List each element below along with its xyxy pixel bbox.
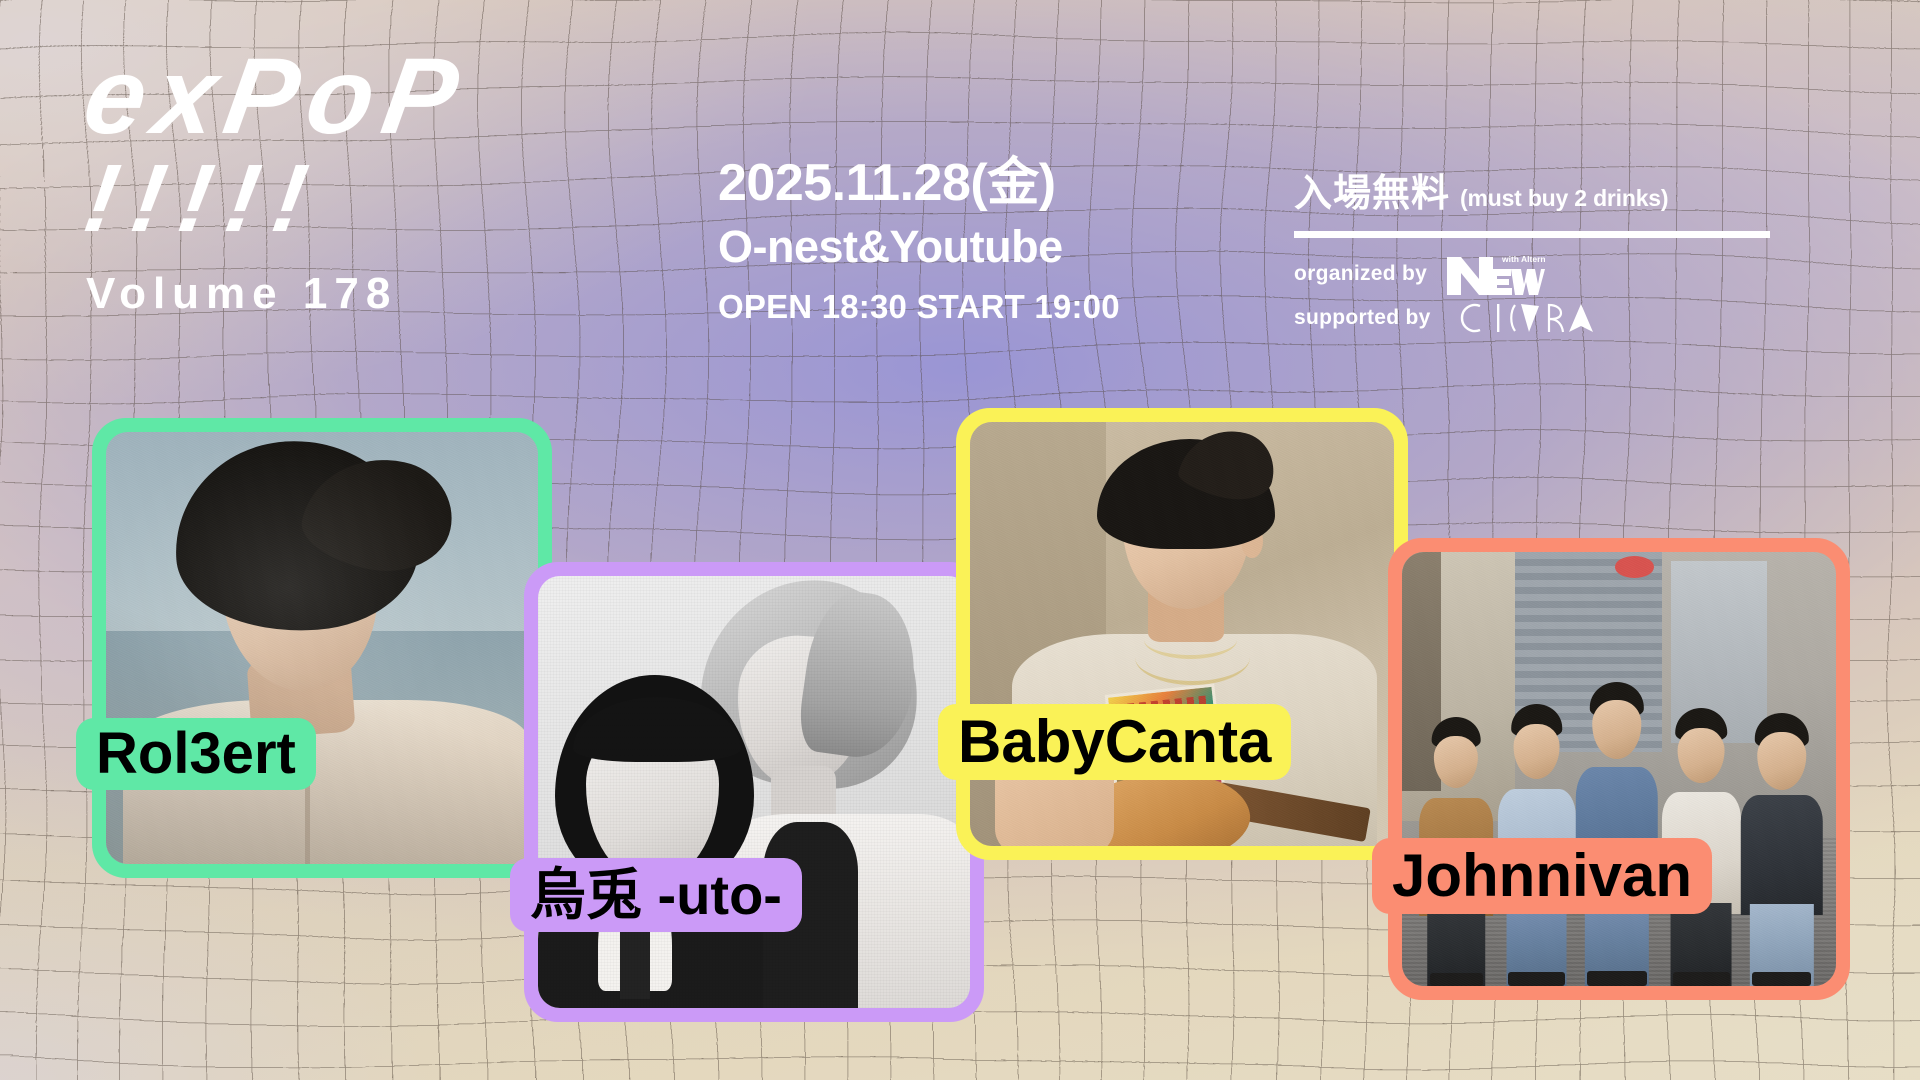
photo-grain bbox=[538, 576, 970, 1008]
photo-grain bbox=[970, 422, 1394, 846]
organized-by-label: organized by bbox=[1294, 262, 1427, 286]
new-wordmark-icon: with Alternatives bbox=[1445, 251, 1545, 297]
brand-logo: exPoP !!!!! Volume 178 bbox=[86, 46, 466, 319]
admission-block: 入場無料 (must buy 2 drinks) organized by wi… bbox=[1294, 162, 1770, 340]
new-logo: with Alternatives bbox=[1445, 251, 1545, 297]
brand-bangs: !!!!! bbox=[78, 151, 473, 247]
artist-card-babycanta[interactable]: BabyCanta bbox=[956, 408, 1408, 860]
artist-photo-babycanta bbox=[970, 422, 1394, 846]
organizer-row: organized by with Alternatives bbox=[1294, 252, 1770, 296]
admission-price: 入場無料 bbox=[1294, 162, 1450, 217]
event-details: 2025.11.28(金) O-nest&Youtube OPEN 18:30 … bbox=[718, 152, 1120, 332]
divider-rule bbox=[1294, 231, 1770, 238]
cimra-wordmark-icon bbox=[1449, 296, 1609, 340]
event-poster: exPoP !!!!! Volume 178 2025.11.28(金) O-n… bbox=[0, 0, 1920, 1080]
brand-title: exPoP bbox=[78, 46, 474, 145]
photo-grain bbox=[106, 432, 538, 864]
artist-photo-rol3ert bbox=[106, 432, 538, 864]
brand-volume: Volume 178 bbox=[86, 269, 466, 319]
artist-name-babycanta: BabyCanta bbox=[938, 704, 1291, 780]
event-date: 2025.11.28(金) bbox=[718, 152, 1120, 215]
artist-name-rol3ert: Rol3ert bbox=[76, 718, 316, 790]
artist-name-uto: 烏兎 -uto- bbox=[510, 858, 802, 932]
photo-grain bbox=[1402, 552, 1836, 986]
artist-card-johnnivan[interactable]: Johnnivan bbox=[1388, 538, 1850, 1000]
artist-name-johnnivan: Johnnivan bbox=[1372, 838, 1712, 914]
event-times: OPEN 18:30 START 19:00 bbox=[718, 282, 1120, 332]
supported-by-label: supported by bbox=[1294, 306, 1431, 330]
admission-price-row: 入場無料 (must buy 2 drinks) bbox=[1294, 162, 1770, 217]
cimra-logo bbox=[1449, 296, 1609, 340]
svg-text:with Alternatives: with Alternatives bbox=[1501, 254, 1545, 264]
admission-price-note: (must buy 2 drinks) bbox=[1460, 185, 1668, 212]
artist-card-rol3ert[interactable]: Rol3ert bbox=[92, 418, 552, 878]
artist-card-uto[interactable]: 烏兎 -uto- bbox=[524, 562, 984, 1022]
supporter-row: supported by bbox=[1294, 296, 1770, 340]
artist-photo-uto bbox=[538, 576, 970, 1008]
event-venue: O-nest&Youtube bbox=[718, 215, 1120, 278]
artist-photo-johnnivan bbox=[1402, 552, 1836, 986]
